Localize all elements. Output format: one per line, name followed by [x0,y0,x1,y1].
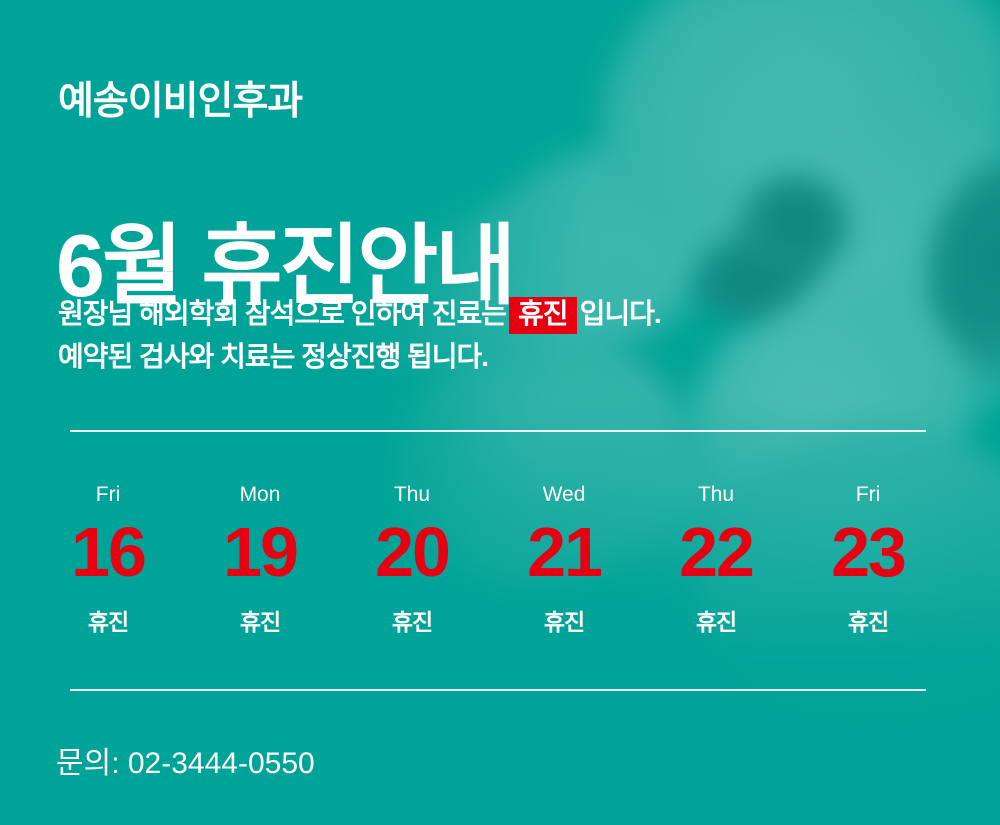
day-number: 22 [640,517,792,587]
divider-bottom [70,689,926,691]
day-of-week: Fri [32,484,184,505]
schedule-row: Fri 16 휴진 Mon 19 휴진 Thu 20 휴진 Wed 21 휴진 … [32,484,944,634]
day-of-week: Mon [184,484,336,505]
contact-phone: 문의: 02-3444-0550 [56,749,315,779]
schedule-day-4: Wed 21 휴진 [488,484,640,634]
day-of-week: Thu [640,484,792,505]
notice-line-1: 원장님 해외학회 참석으로 인하여 진료는휴진입니다. [58,292,661,335]
notice-line-2: 예약된 검사와 치료는 정상진행 됩니다. [58,335,661,378]
holiday-notice-poster: 예송이비인후과 6월 휴진안내 원장님 해외학회 참석으로 인하여 진료는휴진입… [0,0,1000,825]
divider-top [70,430,926,432]
schedule-day-3: Thu 20 휴진 [336,484,488,634]
day-status: 휴진 [488,611,640,634]
closed-badge: 휴진 [509,297,577,334]
day-status: 휴진 [184,611,336,634]
day-of-week: Thu [336,484,488,505]
day-status: 휴진 [336,611,488,634]
clinic-name: 예송이비인후과 [58,82,302,121]
poster-content: 예송이비인후과 6월 휴진안내 원장님 해외학회 참석으로 인하여 진료는휴진입… [0,0,1000,825]
day-number: 19 [184,517,336,587]
day-number: 23 [792,517,944,587]
day-of-week: Fri [792,484,944,505]
day-status: 휴진 [640,611,792,634]
day-number: 20 [336,517,488,587]
notice-line-1-before: 원장님 해외학회 참석으로 인하여 진료는 [58,298,506,329]
schedule-day-6: Fri 23 휴진 [792,484,944,634]
notice-text: 원장님 해외학회 참석으로 인하여 진료는휴진입니다. 예약된 검사와 치료는 … [58,292,661,379]
day-status: 휴진 [32,611,184,634]
day-of-week: Wed [488,484,640,505]
day-number: 21 [488,517,640,587]
schedule-day-5: Thu 22 휴진 [640,484,792,634]
schedule-day-1: Fri 16 휴진 [32,484,184,634]
schedule-day-2: Mon 19 휴진 [184,484,336,634]
day-number: 16 [32,517,184,587]
day-status: 휴진 [792,611,944,634]
notice-line-1-after: 입니다. [580,298,661,329]
